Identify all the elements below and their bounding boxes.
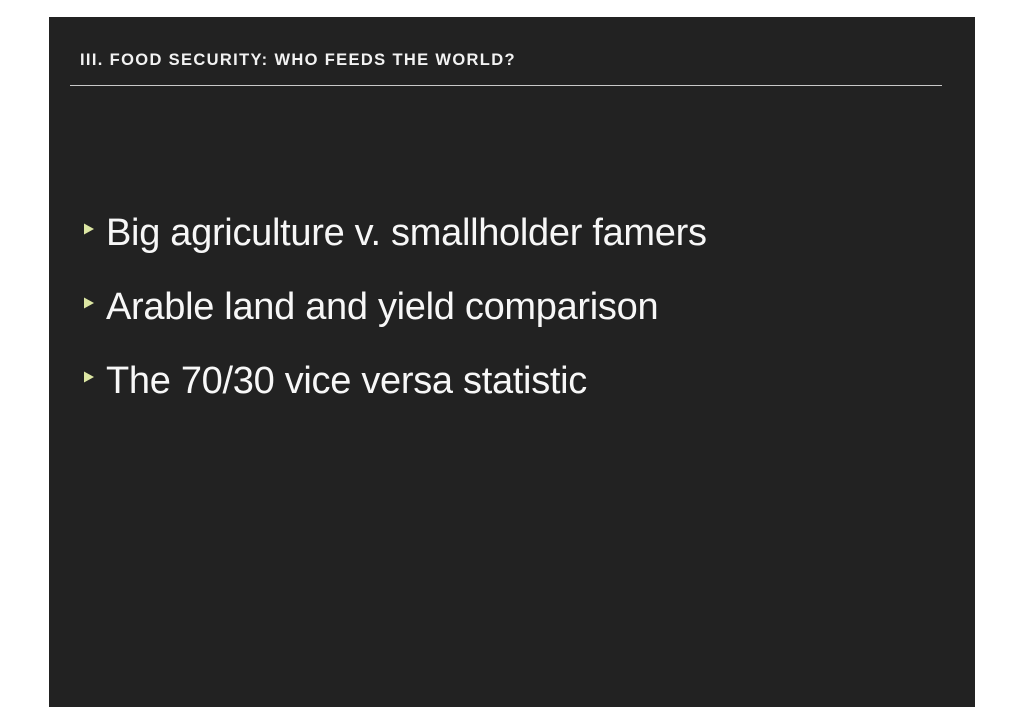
bullet-text: Big agriculture v. smallholder famers	[106, 209, 942, 257]
title-divider	[70, 85, 942, 86]
triangle-right-icon	[82, 370, 106, 384]
bullet-list: Big agriculture v. smallholder famers Ar…	[82, 209, 942, 431]
bullet-text: Arable land and yield comparison	[106, 283, 942, 331]
bullet-text: The 70/30 vice versa statistic	[106, 357, 942, 405]
list-item: Big agriculture v. smallholder famers	[82, 209, 942, 283]
triangle-right-icon	[82, 296, 106, 310]
page-title: III. FOOD SECURITY: WHO FEEDS THE WORLD?	[80, 50, 944, 70]
slide-title-block: III. FOOD SECURITY: WHO FEEDS THE WORLD?	[80, 50, 944, 70]
triangle-right-icon	[82, 222, 106, 236]
list-item: Arable land and yield comparison	[82, 283, 942, 357]
list-item: The 70/30 vice versa statistic	[82, 357, 942, 431]
slide-canvas: III. FOOD SECURITY: WHO FEEDS THE WORLD?…	[49, 17, 975, 707]
page-canvas: III. FOOD SECURITY: WHO FEEDS THE WORLD?…	[0, 0, 1024, 724]
